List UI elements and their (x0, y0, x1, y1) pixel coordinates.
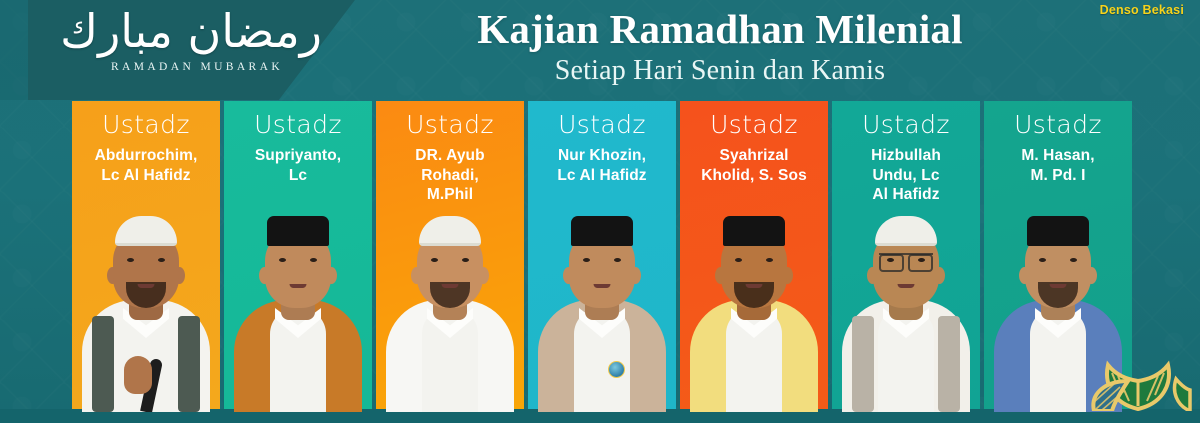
portrait-cap-kopiah (115, 216, 177, 246)
ramadan-mubarak-logo: رمضان مبارك RAMADAN MUBARAK (72, 2, 322, 94)
portrait-scarf-left (852, 316, 874, 412)
speaker-role: Ustadz (528, 110, 676, 140)
portrait-cap-peci (267, 216, 329, 246)
portrait-cap-kopiah (419, 216, 481, 246)
portrait-eye-left (431, 258, 438, 262)
portrait-cap-peci (723, 216, 785, 246)
speaker-name: M. Hasan, (984, 146, 1132, 166)
speaker-portrait (680, 197, 828, 412)
banner-header: رمضان مبارك RAMADAN MUBARAK Kajian Ramad… (0, 0, 1200, 100)
speaker-name: M. Pd. I (984, 166, 1132, 186)
portrait-scarf-right (938, 316, 960, 412)
page-subtitle: Setiap Hari Senin dan Kamis (380, 54, 1060, 88)
speaker-card[interactable]: UstadzNur Khozin,Lc Al Hafidz (528, 101, 676, 412)
ramadan-mubarak-latin-text: RAMADAN MUBARAK (72, 61, 322, 73)
speaker-role: Ustadz (984, 110, 1132, 140)
speaker-name: Abdurrochim, (72, 146, 220, 166)
portrait-eye-left (735, 258, 742, 262)
speaker-label-block: UstadzM. Hasan,M. Pd. I (984, 101, 1132, 185)
title-block: Kajian Ramadhan Milenial Setiap Hari Sen… (380, 4, 1060, 88)
islamic-arch-ornament-icon (1072, 339, 1200, 411)
speaker-name: M.Phil (376, 185, 524, 205)
speaker-card[interactable]: UstadzDR. AyubRohadi,M.Phil (376, 101, 524, 412)
portrait-eye-right (766, 258, 773, 262)
watermark-label: Denso Bekasi (1100, 3, 1184, 17)
speaker-portrait (72, 197, 220, 412)
portrait-cap-peci (1027, 216, 1089, 246)
ramadan-banner: رمضان مبارك RAMADAN MUBARAK Kajian Ramad… (0, 0, 1200, 423)
speaker-portrait (528, 197, 676, 412)
speaker-label-block: UstadzDR. AyubRohadi,M.Phil (376, 101, 524, 205)
portrait-scarf-left (92, 316, 114, 412)
portrait-cap-kopiah (875, 216, 937, 246)
speaker-name: DR. Ayub (376, 146, 524, 166)
portrait-mouth (138, 284, 155, 288)
speaker-label-block: UstadzSyahrizalKholid, S. Sos (680, 101, 828, 185)
speaker-portrait (224, 197, 372, 412)
speaker-name: Nur Khozin, (528, 146, 676, 166)
portrait-mouth (442, 284, 459, 288)
speaker-card[interactable]: UstadzHizbullahUndu, LcAl Hafidz (832, 101, 980, 412)
portrait-scarf-right (178, 316, 200, 412)
page-title: Kajian Ramadhan Milenial (380, 4, 1060, 54)
speaker-name: Lc Al Hafidz (72, 166, 220, 186)
arabic-calligraphy-text: رمضان مبارك (72, 2, 322, 60)
portrait-mouth (746, 284, 763, 288)
portrait-mouth (290, 284, 307, 288)
portrait-inner-garment (574, 308, 630, 412)
speaker-portrait (832, 197, 980, 412)
speaker-card-row: UstadzAbdurrochim,Lc Al HafidzUstadzSupr… (72, 101, 1132, 412)
speaker-card[interactable]: UstadzSyahrizalKholid, S. Sos (680, 101, 828, 412)
portrait-inner-garment (726, 308, 782, 412)
speaker-label-block: UstadzNur Khozin,Lc Al Hafidz (528, 101, 676, 185)
portrait-inner-garment (878, 308, 934, 412)
portrait-hand (124, 356, 152, 394)
speaker-name: Lc Al Hafidz (528, 166, 676, 186)
speaker-card[interactable]: UstadzSupriyanto,Lc (224, 101, 372, 412)
speaker-name: Rohadi, (376, 166, 524, 186)
portrait-eye-right (310, 258, 317, 262)
portrait-inner-garment (270, 308, 326, 412)
speaker-role: Ustadz (72, 110, 220, 140)
speaker-role: Ustadz (832, 110, 980, 140)
speaker-name: Al Hafidz (832, 185, 980, 205)
speaker-label-block: UstadzAbdurrochim,Lc Al Hafidz (72, 101, 220, 185)
portrait-mouth (594, 284, 611, 288)
speaker-role: Ustadz (224, 110, 372, 140)
portrait-eye-left (583, 258, 590, 262)
portrait-eye-right (614, 258, 621, 262)
speaker-name: Supriyanto, (224, 146, 372, 166)
speaker-name: Undu, Lc (832, 166, 980, 186)
portrait-inner-garment (422, 308, 478, 412)
portrait-eye-left (1039, 258, 1046, 262)
portrait-eye-left (279, 258, 286, 262)
portrait-mouth (1050, 284, 1067, 288)
speaker-role: Ustadz (376, 110, 524, 140)
speaker-name: Syahrizal (680, 146, 828, 166)
portrait-badge-icon (608, 361, 625, 378)
portrait-mouth (898, 284, 915, 288)
speaker-label-block: UstadzSupriyanto,Lc (224, 101, 372, 185)
portrait-eye-right (1070, 258, 1077, 262)
speaker-portrait (376, 197, 524, 412)
portrait-eye-right (158, 258, 165, 262)
portrait-eye-right (462, 258, 469, 262)
portrait-cap-peci (571, 216, 633, 246)
portrait-glasses-icon (879, 253, 933, 268)
speaker-label-block: UstadzHizbullahUndu, LcAl Hafidz (832, 101, 980, 205)
speaker-role: Ustadz (680, 110, 828, 140)
portrait-eye-left (127, 258, 134, 262)
speaker-card[interactable]: UstadzAbdurrochim,Lc Al Hafidz (72, 101, 220, 412)
speaker-name: Lc (224, 166, 372, 186)
speaker-name: Kholid, S. Sos (680, 166, 828, 186)
speaker-name: Hizbullah (832, 146, 980, 166)
